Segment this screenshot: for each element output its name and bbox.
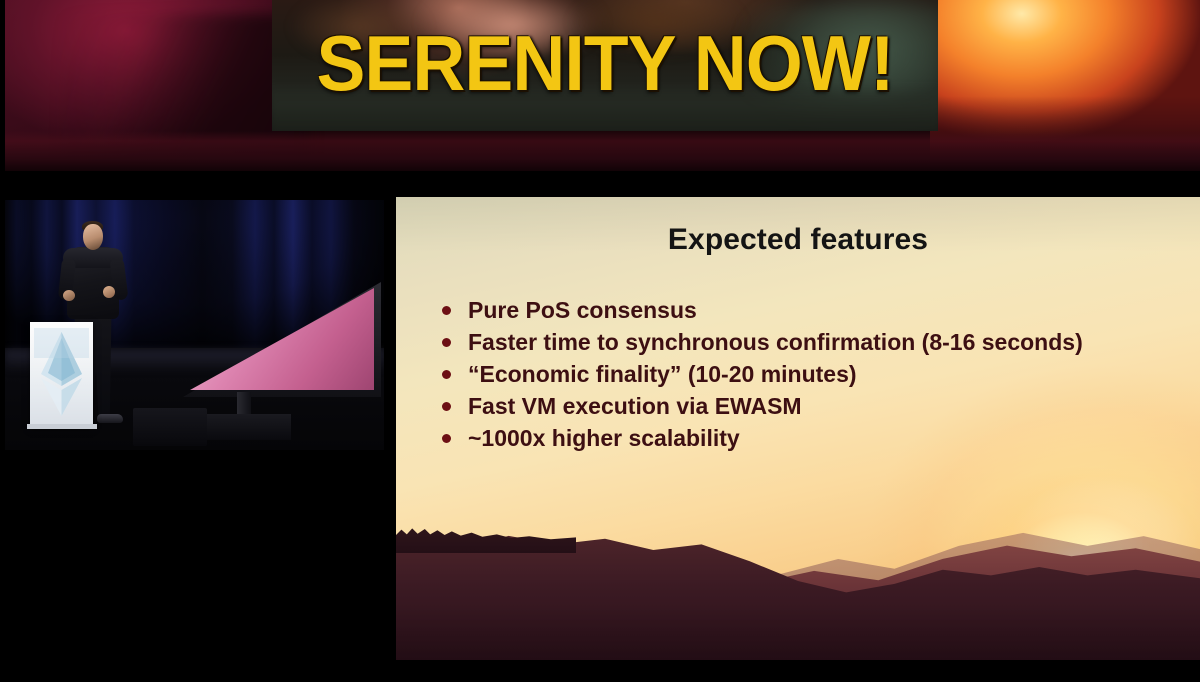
speaker-left-hand: [63, 290, 75, 301]
left-edge-border: [0, 0, 5, 682]
meme-caption-text: SERENITY NOW!: [292, 18, 918, 108]
podium-base: [27, 424, 97, 429]
slide-bullet-item: Pure PoS consensus: [432, 295, 1172, 327]
slide-bullet-item: “Economic finality” (10-20 minutes): [432, 359, 1172, 391]
speaker-shoe: [97, 414, 123, 423]
slide-bullet-list: Pure PoS consensus Faster time to synchr…: [432, 295, 1172, 455]
ethereum-diamond-icon: [34, 328, 89, 420]
screenshot-root: SERENITY NOW!: [0, 0, 1200, 682]
lower-left-letterbox: [0, 450, 396, 682]
banner-content-divider: [0, 171, 1200, 197]
presentation-slide: Expected features Pure PoS consensus Fas…: [396, 197, 1200, 660]
slide-bullet-item: Fast VM execution via EWASM: [432, 391, 1172, 423]
slide-bullet-item: ~1000x higher scalability: [432, 423, 1172, 455]
speaker-head: [83, 224, 103, 250]
stage-screen-prop: [183, 282, 381, 397]
top-banner: SERENITY NOW!: [0, 0, 1200, 171]
speaker-right-hand: [103, 286, 115, 298]
meme-image-panel: SERENITY NOW!: [272, 0, 938, 131]
stage-confidence-monitor: [133, 408, 207, 446]
bottom-letterbox: [0, 660, 1200, 682]
banner-bottom-strip: [0, 131, 1200, 171]
slide-bullet-item: Faster time to synchronous confirmation …: [432, 327, 1172, 359]
slide-title: Expected features: [396, 223, 1200, 257]
speaker-video-panel: [5, 200, 384, 450]
